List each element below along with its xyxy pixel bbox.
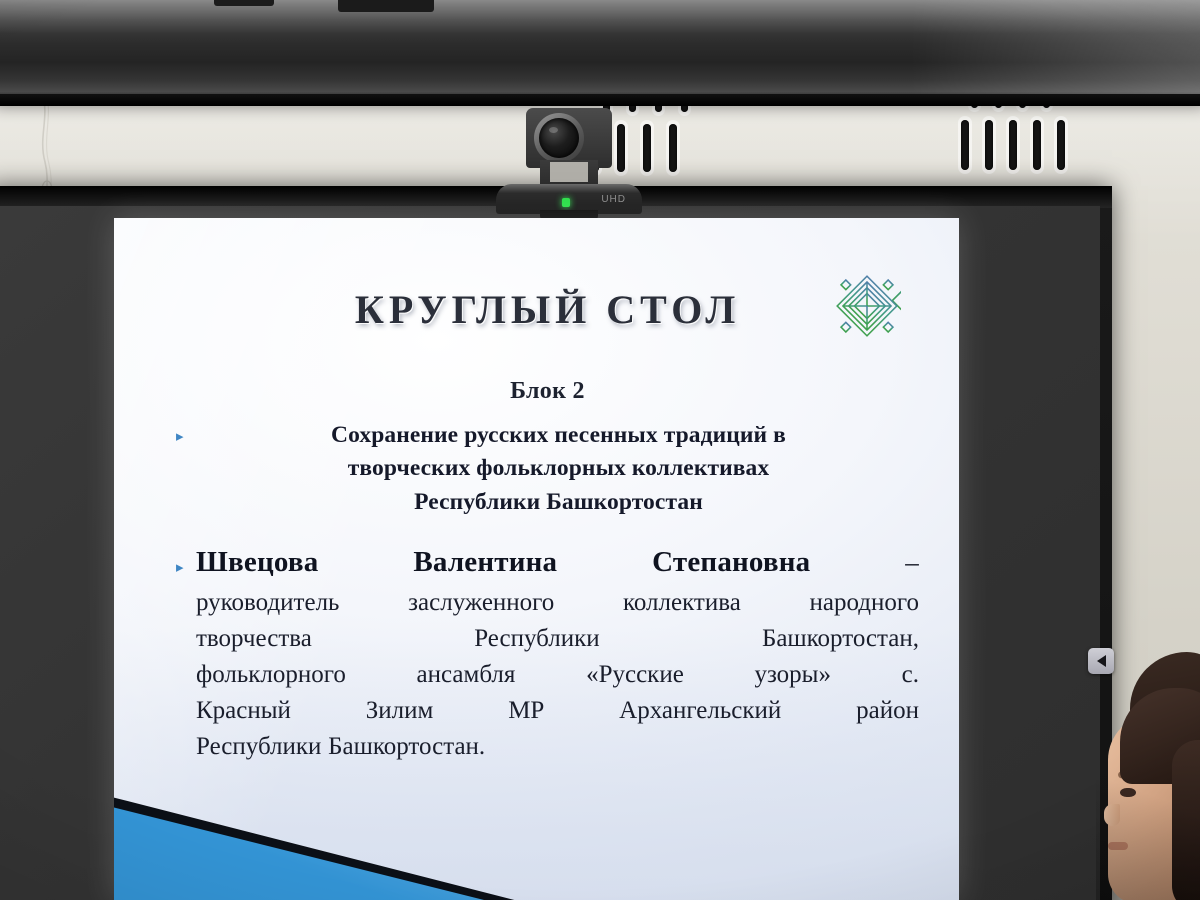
block-heading: Блок 2 — [176, 378, 919, 405]
topic-bullet-item: ▸ Сохранение русских песенных традиций в… — [176, 419, 919, 519]
desc-word: Башкортостан, — [762, 621, 919, 657]
speaker-desc-line: Красный Зилим МР Архангельский район — [196, 693, 919, 729]
topic-bullet-body: Сохранение русских песенных традиций в т… — [198, 419, 919, 519]
room-scene: UHD КРУГЛЫЙ СТОЛ — [0, 0, 1200, 900]
desc-word: народного — [809, 585, 919, 621]
desc-word: Красный — [196, 693, 291, 729]
desc-word: МР — [508, 693, 544, 729]
bullet-triangle-icon: ▸ — [176, 419, 198, 519]
bullet-triangle-icon: ▸ — [176, 545, 196, 765]
speaker-name-dash: – — [905, 546, 919, 578]
blind-mount-bracket — [214, 0, 274, 6]
ptz-conference-camera: UHD — [496, 108, 642, 212]
camera-head — [526, 108, 612, 168]
desc-word: Зилим — [366, 693, 434, 729]
roller-blind-housing — [0, 0, 1200, 100]
desc-word: фольклорного — [196, 657, 346, 693]
desc-word: заслуженного — [408, 585, 554, 621]
person-eye — [1120, 788, 1136, 797]
camera-lens-ring — [534, 113, 584, 163]
desc-word: коллектива — [623, 585, 741, 621]
person-nose — [1104, 804, 1120, 826]
desc-word: Республики — [474, 621, 599, 657]
speaker-patronymic: Степановна — [652, 545, 810, 580]
speaker-description: руководитель заслуженного коллектива нар… — [196, 585, 919, 765]
lens-glint — [549, 127, 558, 133]
speaker-bullet-item: ▸ Швецова Валентина Степановна – руковод… — [176, 545, 919, 765]
speaker-desc-line: фольклорного ансамбля «Русские узоры» с. — [196, 657, 919, 693]
speaker-body: Швецова Валентина Степановна – руководит… — [196, 545, 919, 765]
desc-word: Архангельский — [619, 693, 781, 729]
desc-word: «Русские — [586, 657, 684, 693]
audience-person — [1096, 652, 1200, 900]
speaker-desc-line-last: Республики Башкортостан. — [196, 729, 919, 765]
blind-bottom-lip — [0, 94, 1200, 106]
person-lips — [1108, 842, 1128, 850]
desc-word: ансамбля — [417, 657, 516, 693]
camera-lens — [539, 118, 579, 158]
topic-line-1: Сохранение русских песенных традиций в — [198, 419, 919, 452]
camera-status-led — [562, 198, 570, 207]
blind-mount-bracket — [338, 0, 434, 12]
camera-neck-plate — [550, 162, 588, 182]
camera-brand-label: UHD — [601, 194, 626, 205]
speaker-surname: Швецова — [196, 545, 318, 580]
desc-word: район — [856, 693, 919, 729]
person-hair-side — [1172, 740, 1200, 900]
speaker-desc-line: руководитель заслуженного коллектива нар… — [196, 585, 919, 621]
desc-word: руководитель — [196, 585, 339, 621]
slide-title-row: КРУГЛЫЙ СТОЛ — [176, 270, 919, 348]
desc-word: узоры» — [754, 657, 831, 693]
presentation-slide[interactable]: КРУГЛЫЙ СТОЛ — [114, 218, 959, 900]
blind-highlight — [910, 0, 1200, 100]
desc-word: с. — [902, 657, 919, 693]
page-title: КРУГЛЫЙ СТОЛ — [355, 286, 740, 333]
speaker-name-line: Швецова Валентина Степановна – — [196, 545, 919, 580]
slide-decor-blue-triangle — [114, 804, 500, 900]
topic-line-3: Республики Башкортостан — [198, 486, 919, 519]
desc-word: творчества — [196, 621, 312, 657]
speaker-desc-line: творчества Республики Башкортостан, — [196, 621, 919, 657]
speaker-firstname: Валентина — [413, 545, 557, 580]
bashkir-ornament-diamond-logo — [833, 272, 901, 340]
topic-line-2: творческих фольклорных коллективах — [198, 452, 919, 485]
